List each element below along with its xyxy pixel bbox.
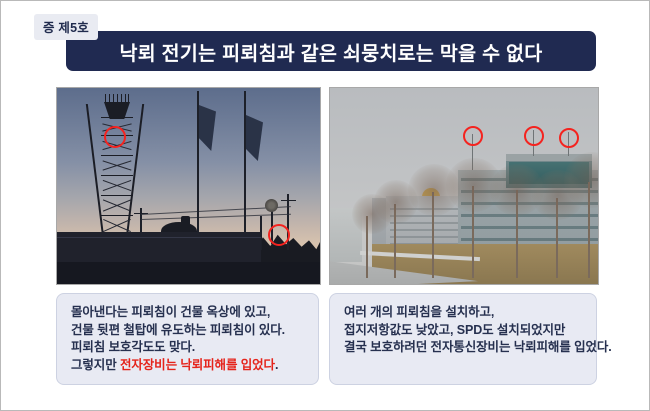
- photo-right: [329, 87, 599, 285]
- caption-line: 피뢰침 보호각도도 맞다.: [71, 339, 306, 357]
- lattice-tower: [95, 104, 139, 244]
- perimeter-wall: [57, 232, 261, 264]
- caption-line-highlighted: 그렇지만 전자장비는 낙뢰피해를 입었다.: [71, 357, 306, 375]
- caption-box-right: 여러 개의 피뢰침을 설치하고, 접지저항값도 낮았고, SPD도 설치되었지만…: [329, 293, 597, 385]
- photo-left-scene: [57, 88, 320, 284]
- flagpole-2: [244, 91, 246, 254]
- annotation-circle-lamp: [268, 224, 290, 246]
- tower-rung: [101, 155, 133, 156]
- flagpole-1: [197, 91, 199, 254]
- slide-canvas: 증 제5호 낙뢰 전기는 피뢰침과 같은 쇠뭉치로는 막을 수 없다: [0, 0, 650, 411]
- photo-right-scene: [330, 88, 598, 284]
- tower-rung: [101, 175, 133, 176]
- title-bar: 낙뢰 전기는 피뢰침과 같은 쇠뭉치로는 막을 수 없다: [66, 31, 596, 71]
- tower-rung: [101, 215, 133, 216]
- exhibit-badge: 증 제5호: [34, 14, 98, 40]
- tower-rung: [101, 195, 133, 196]
- page-title: 낙뢰 전기는 피뢰침과 같은 쇠뭉치로는 막을 수 없다: [119, 37, 542, 66]
- caption-line: 건물 뒷편 철탑에 유도하는 피뢰침이 있다.: [71, 322, 306, 340]
- caption-tail-text: .: [275, 358, 278, 372]
- street-lamp-head: [265, 199, 278, 212]
- annotation-circle-rod-1: [463, 126, 483, 146]
- foreground-ground: [57, 262, 320, 284]
- tower-antenna-spikes: [105, 94, 129, 104]
- caption-box-left: 몰아낸다는 피뢰침이 건물 옥상에 있고, 건물 뒷편 철탑에 유도하는 피뢰침…: [56, 293, 319, 385]
- bare-tree-row: [360, 158, 598, 278]
- caption-lead-text: 그렇지만: [71, 358, 120, 372]
- crossarm-right: [281, 200, 296, 201]
- caption-highlight-text: 전자장비는 낙뢰피해를 입었다: [120, 358, 275, 372]
- caption-line: 결국 보호하려던 전자통신장비는 낙뢰피해를 입었다.: [344, 339, 584, 357]
- annotation-circle-tower-tip: [104, 126, 126, 148]
- photo-left: [56, 87, 321, 285]
- caption-line: 여러 개의 피뢰침을 설치하고,: [344, 304, 584, 322]
- caption-line: 접지저항값도 낮았고, SPD도 설치되었지만: [344, 322, 584, 340]
- annotation-circle-rod-3: [559, 128, 579, 148]
- caption-line: 몰아낸다는 피뢰침이 건물 옥상에 있고,: [71, 304, 306, 322]
- annotation-circle-rod-2: [524, 126, 544, 146]
